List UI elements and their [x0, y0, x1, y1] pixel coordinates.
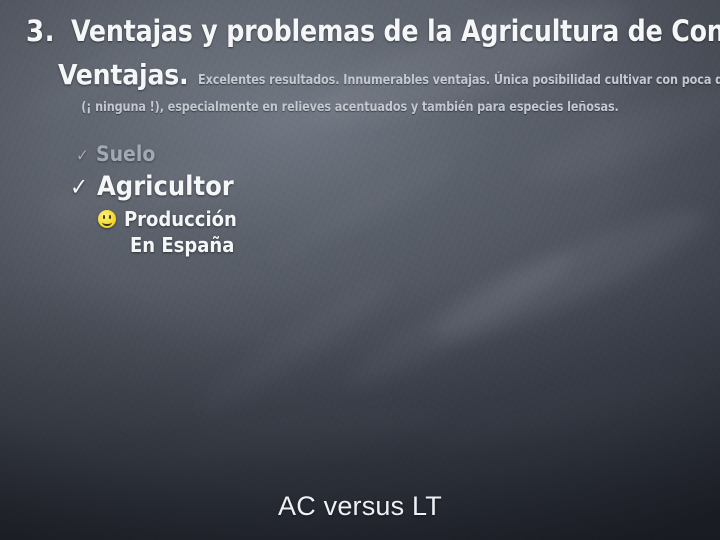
title-number: 3. [26, 17, 55, 46]
subtitle-second-line: (¡ ninguna !), especialmente en relieves… [58, 98, 650, 116]
subtitle-block: Ventajas. Excelentes resultados. Innumer… [58, 60, 650, 116]
subtitle-description-line-1: Excelentes resultados. Innumerables vent… [198, 74, 720, 88]
bullet-item-suelo: ✓ Suelo [76, 142, 237, 167]
title-text: Ventajas y problemas de la Agricultura d… [71, 17, 720, 46]
slide-title: 3. Ventajas y problemas de la Agricultur… [26, 17, 702, 46]
bullet-label-produccion: Producción [124, 208, 237, 232]
bullet-item-en-espana: En España [130, 234, 237, 258]
smiley-icon [98, 210, 116, 228]
subtitle-heading: Ventajas. [58, 60, 188, 89]
check-icon: ✓ [70, 173, 97, 202]
slide-canvas: 3. Ventajas y problemas de la Agricultur… [0, 0, 720, 540]
check-icon: ✓ [76, 146, 96, 166]
subtitle-first-line: Ventajas. Excelentes resultados. Innumer… [58, 60, 650, 89]
bullet-item-produccion: Producción [98, 208, 237, 232]
bullet-label-agricultor: Agricultor [97, 171, 234, 203]
bullet-list: ✓ Suelo ✓ Agricultor Producción En Españ… [70, 142, 237, 257]
bullet-item-agricultor: ✓ Agricultor [70, 171, 237, 203]
subtitle-description-line-2: (¡ ninguna !), especialmente en relieves… [81, 101, 619, 115]
slide-footer: AC versus LT [0, 491, 720, 522]
bullet-label-suelo: Suelo [96, 142, 155, 167]
bullet-label-en-espana: En España [130, 234, 234, 258]
slide-content: 3. Ventajas y problemas de la Agricultur… [0, 0, 720, 540]
